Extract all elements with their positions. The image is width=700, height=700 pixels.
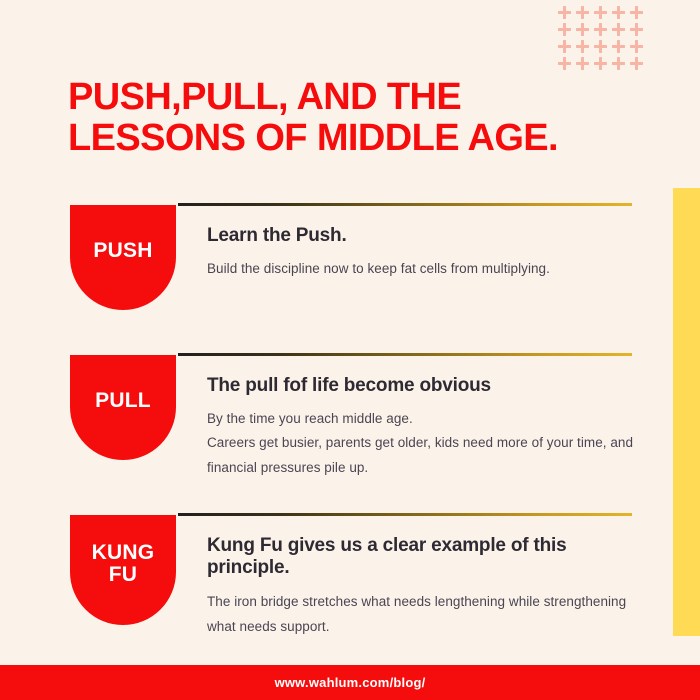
plus-icon xyxy=(612,40,630,57)
badge-pull: PULL xyxy=(70,355,176,460)
infographic-poster: PUSH,PULL, AND THE LESSONS OF MIDDLE AGE… xyxy=(0,0,700,700)
plus-icon xyxy=(630,40,648,57)
plus-icon xyxy=(630,57,648,74)
card-description: The iron bridge stretches what needs len… xyxy=(207,590,627,639)
card-body: Learn the Push. Build the discipline now… xyxy=(207,225,637,281)
plus-icon xyxy=(558,57,576,74)
plus-icon xyxy=(576,40,594,57)
card-body: The pull fof life become obvious By the … xyxy=(207,375,637,480)
badge-kung-fu: KUNG FU xyxy=(70,515,176,625)
divider-rule xyxy=(178,353,632,356)
footer-bar: www.wahlum.com/blog/ xyxy=(0,665,700,700)
plus-icon xyxy=(558,23,576,40)
plus-icon xyxy=(594,23,612,40)
card-description: Build the discipline now to keep fat cel… xyxy=(207,257,637,282)
plus-icon xyxy=(576,57,594,74)
plus-icon xyxy=(630,23,648,40)
plus-icon xyxy=(612,57,630,74)
plus-icon xyxy=(594,40,612,57)
card-body: Kung Fu gives us a clear example of this… xyxy=(207,535,627,639)
plus-pattern-decoration xyxy=(558,6,648,72)
card-description: By the time you reach middle age. Career… xyxy=(207,407,637,481)
yellow-accent-bar xyxy=(673,188,700,636)
card-title: The pull fof life become obvious xyxy=(207,375,637,397)
plus-icon xyxy=(612,6,630,23)
plus-icon xyxy=(594,6,612,23)
divider-rule xyxy=(178,513,632,516)
plus-icon xyxy=(576,23,594,40)
plus-icon xyxy=(630,6,648,23)
plus-icon xyxy=(558,6,576,23)
plus-icon xyxy=(576,6,594,23)
card-title: Learn the Push. xyxy=(207,225,637,247)
page-title: PUSH,PULL, AND THE LESSONS OF MIDDLE AGE… xyxy=(68,77,568,159)
badge-label: KUNG FU xyxy=(92,542,155,586)
badge-push: PUSH xyxy=(70,205,176,310)
divider-rule xyxy=(178,203,632,206)
footer-url[interactable]: www.wahlum.com/blog/ xyxy=(275,675,426,690)
plus-icon xyxy=(594,57,612,74)
card-title: Kung Fu gives us a clear example of this… xyxy=(207,535,627,578)
badge-label: PUSH xyxy=(93,240,152,262)
badge-label: PULL xyxy=(95,390,151,412)
plus-icon xyxy=(612,23,630,40)
plus-icon xyxy=(558,40,576,57)
